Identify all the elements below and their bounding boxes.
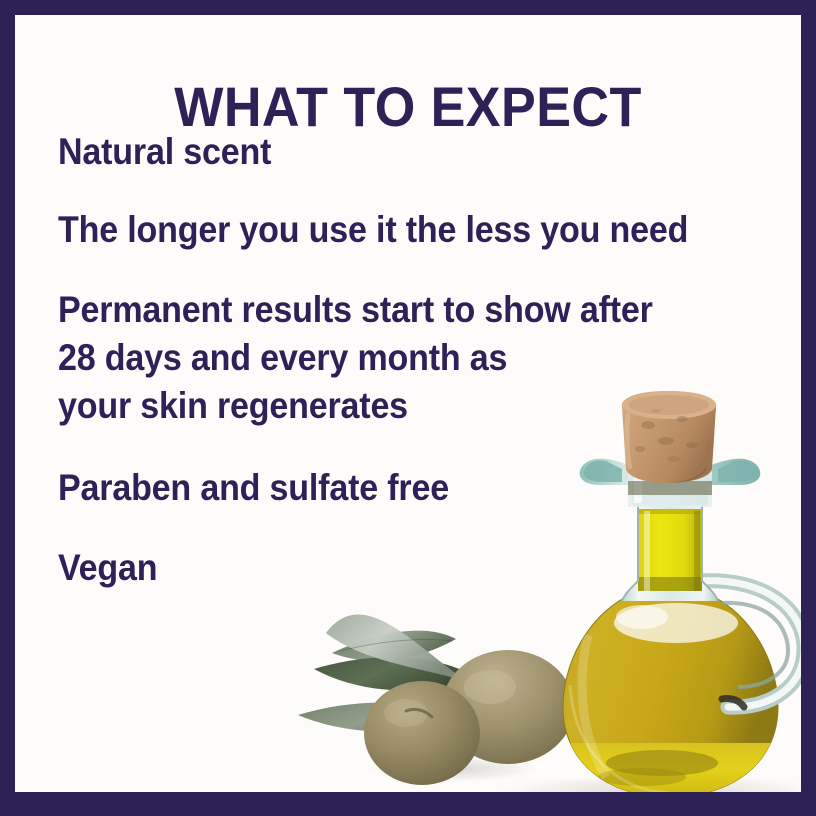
olive-fruit-back [442, 650, 574, 764]
bottle-right-edge-shade [758, 615, 791, 792]
benefit-line: Vegan [58, 544, 739, 592]
benefits-list: Natural scent The longer you use it the … [58, 128, 798, 592]
oil-settled-layer [550, 743, 790, 792]
oil-sediment [606, 750, 718, 776]
spacer [58, 430, 798, 464]
olive-leaf-vein [340, 639, 452, 651]
olive-leaf-upper [314, 657, 476, 690]
handle-inner-shadow [722, 603, 788, 687]
bottle-rim-gloss [570, 685, 670, 792]
benefit-natural-scent: Natural scent [58, 128, 739, 176]
glass-handle [698, 581, 801, 707]
olive-leaves [298, 614, 476, 731]
olive-shadow [360, 755, 544, 783]
spacer [58, 512, 798, 544]
benefit-longer-use-less-need: The longer you use it the less you need [58, 206, 739, 254]
oil-sediment [598, 768, 686, 786]
benefit-line: The longer you use it the less you need [58, 206, 739, 254]
spacer [58, 254, 798, 286]
spacer [58, 176, 798, 206]
benefit-line: Paraben and sulfate free [58, 464, 739, 512]
benefit-line: Permanent results start to show after [58, 286, 739, 334]
body-highlight-large [614, 603, 738, 643]
benefit-permanent-results: Permanent results start to show after 28… [58, 286, 739, 430]
benefit-line: your skin regenerates [58, 382, 739, 430]
glass-bottle-body [550, 585, 791, 792]
olive-leaf-pointed [326, 614, 466, 681]
olive-leaf-lower [298, 702, 468, 731]
benefit-line: 28 days and every month as [58, 334, 739, 382]
body-sheen [582, 635, 606, 777]
olive-leaf-top [332, 631, 456, 661]
content-card: WHAT TO EXPECT Natural scent The longer … [15, 15, 801, 792]
benefit-paraben-sulfate-free: Paraben and sulfate free [58, 464, 739, 512]
benefit-vegan: Vegan [58, 544, 739, 592]
bottle-left-edge-shade [550, 615, 586, 792]
product-shadow [482, 773, 801, 792]
handle-joint-dark [722, 698, 744, 707]
benefit-line: Natural scent [58, 128, 739, 176]
olive-stem-scar [406, 709, 432, 717]
body-highlight-small [616, 605, 668, 629]
image-canvas: WHAT TO EXPECT Natural scent The longer … [0, 0, 816, 816]
olive-fruit-front [364, 681, 480, 785]
